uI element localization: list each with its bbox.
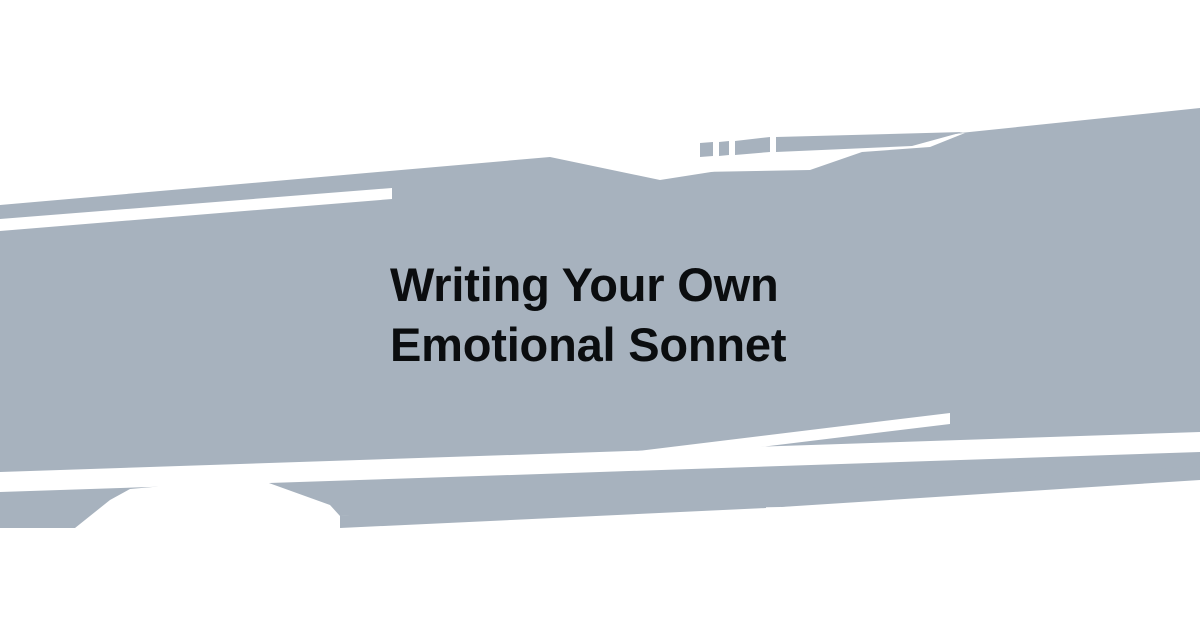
banner-card: Writing Your Own Emotional Sonnet <box>0 0 1200 630</box>
decorative-background-art <box>0 0 1200 630</box>
dash-square-1 <box>700 142 713 157</box>
dash-square-2 <box>719 141 729 156</box>
